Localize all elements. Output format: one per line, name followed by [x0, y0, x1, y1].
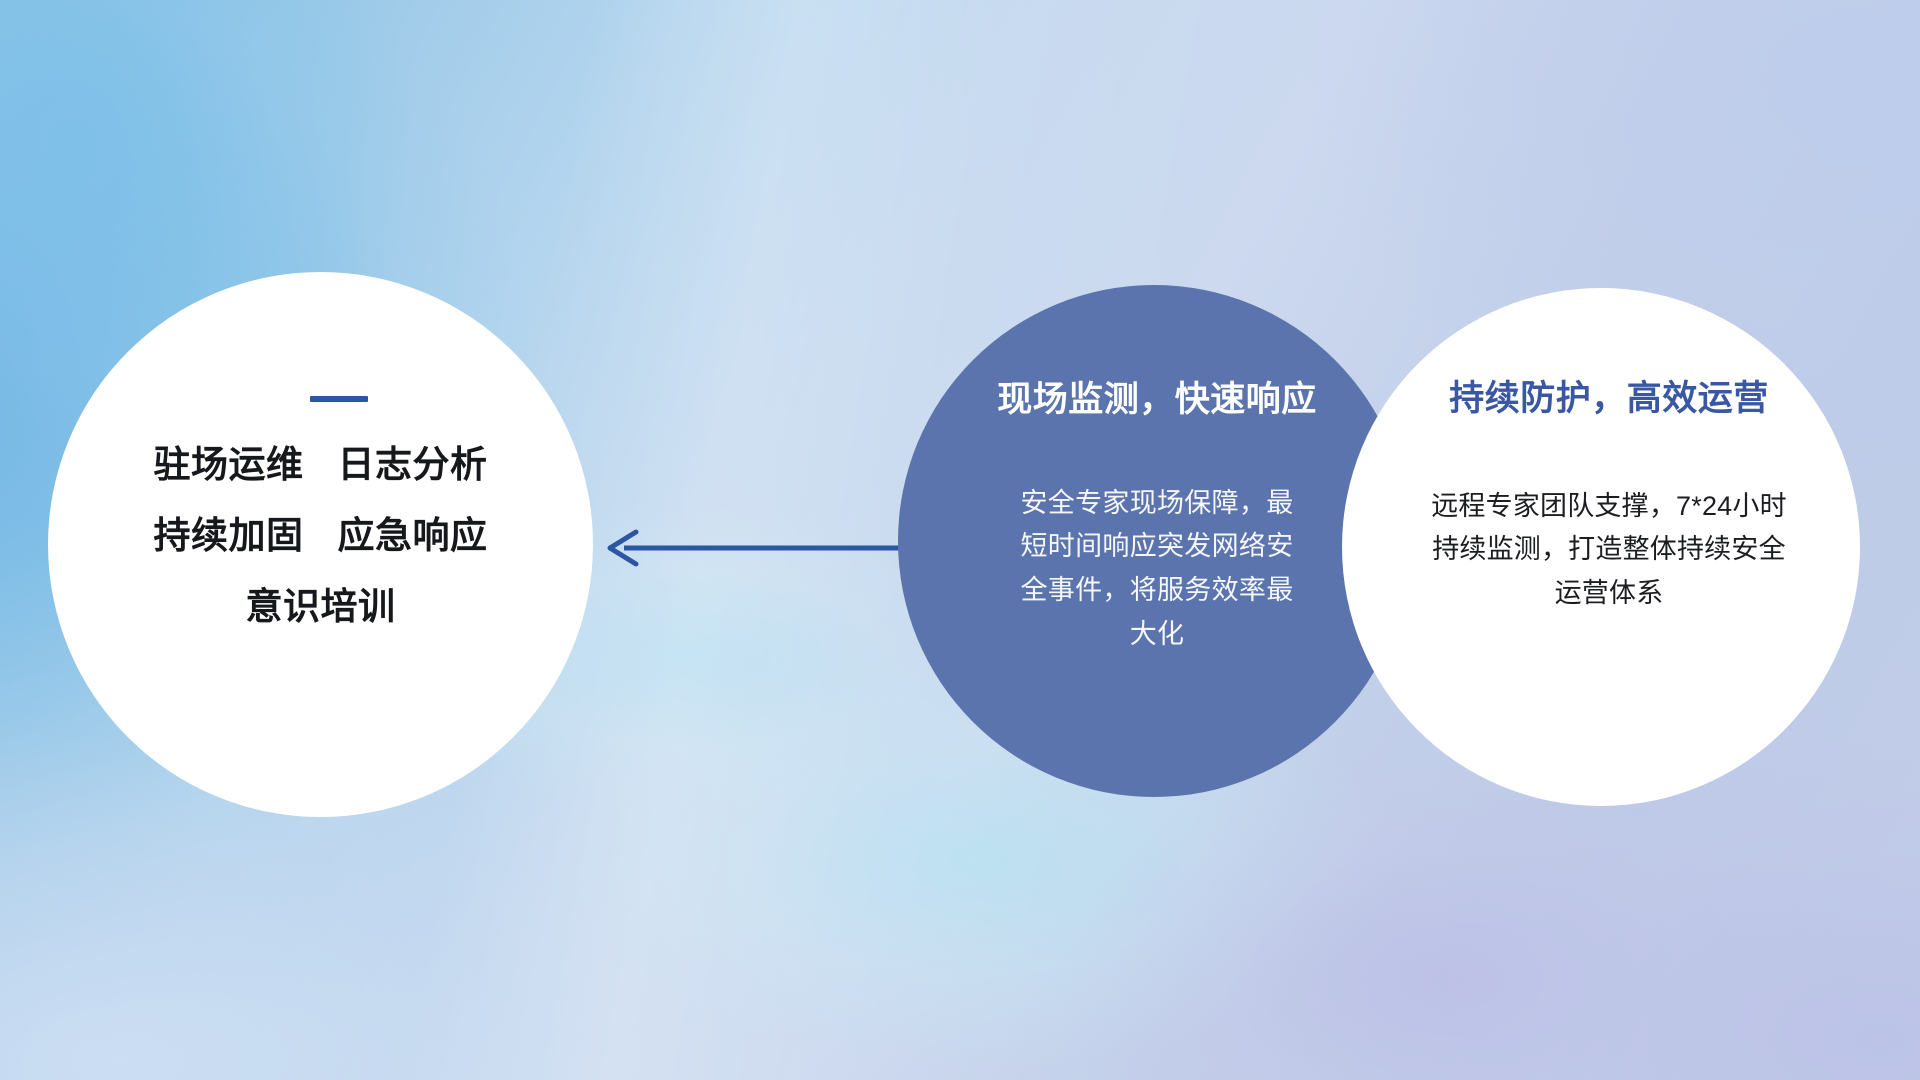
- capability-tag[interactable]: 应急响应: [338, 517, 488, 554]
- continuous-protection-title: 持续防护，高效运营: [1449, 380, 1769, 419]
- onsite-monitoring-content: 现场监测，快速响应 安全专家现场保障，最短时间响应突发网络安全事件，将服务效率最…: [898, 285, 1410, 797]
- capability-row: 意识培训: [246, 588, 396, 625]
- continuous-protection-content: 持续防护，高效运营 远程专家团队支撑，7*24小时持续监测，打造整体持续安全运营…: [1342, 288, 1860, 806]
- onsite-monitoring-title: 现场监测，快速响应: [997, 381, 1317, 420]
- capability-tag[interactable]: 驻场运维: [154, 446, 304, 483]
- capability-tag[interactable]: 日志分析: [338, 446, 488, 483]
- service-capability-content: 驻场运维 日志分析 持续加固 应急响应 意识培训: [48, 272, 593, 817]
- slide-canvas: 驻场运维 日志分析 持续加固 应急响应 意识培训 现场监测，快速响应 安全专家现…: [0, 0, 1920, 1080]
- onsite-monitoring-body: 安全专家现场保障，最短时间响应突发网络安全事件，将服务效率最大化: [1007, 482, 1307, 657]
- capability-row: 驻场运维 日志分析: [154, 446, 488, 483]
- capability-tag[interactable]: 意识培训: [246, 588, 396, 625]
- continuous-protection-body: 远程专家团队支撑，7*24小时持续监测，打造整体持续安全运营体系: [1424, 485, 1794, 616]
- capability-tag[interactable]: 持续加固: [154, 517, 304, 554]
- capability-row: 持续加固 应急响应: [154, 517, 488, 554]
- accent-dash-icon: [310, 396, 368, 402]
